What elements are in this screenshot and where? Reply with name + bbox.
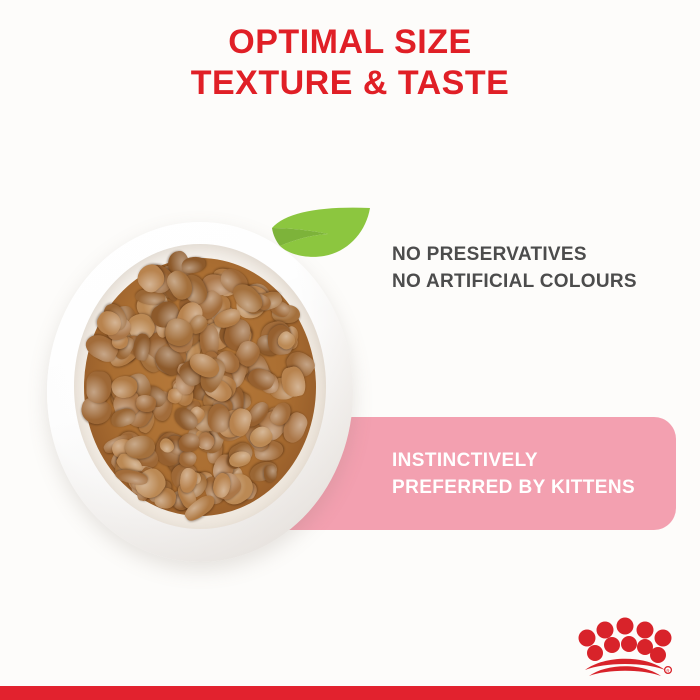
food-bowl-image	[47, 222, 353, 562]
bottom-accent-bar	[0, 686, 700, 700]
banner-line-2: PREFERRED BY KITTENS	[392, 474, 635, 501]
bowl-inner-well	[74, 244, 326, 529]
food-chunk	[263, 464, 277, 481]
kitten-preference-banner-text: INSTINCTIVELY PREFERRED BY KITTENS	[392, 447, 635, 501]
banner-line-1: INSTINCTIVELY	[392, 447, 635, 474]
food-chunks	[74, 244, 326, 529]
claim-line-1: NO PRESERVATIVES	[392, 241, 637, 268]
claim-line-2: NO ARTIFICIAL COLOURS	[392, 268, 637, 295]
food-chunk	[86, 371, 111, 403]
page-title-line-1: OPTIMAL SIZE	[0, 22, 700, 63]
product-claims: NO PRESERVATIVES NO ARTIFICIAL COLOURS	[392, 241, 637, 295]
trademark-symbol: R	[666, 669, 669, 674]
page-title: OPTIMAL SIZE TEXTURE & TASTE	[0, 22, 700, 104]
leaf-icon	[266, 206, 374, 262]
page-title-line-2: TEXTURE & TASTE	[0, 63, 700, 104]
royal-canin-crown-logo: R	[575, 608, 675, 680]
product-feature-graphic: OPTIMAL SIZE TEXTURE & TASTE INSTINCTIVE…	[0, 0, 700, 700]
